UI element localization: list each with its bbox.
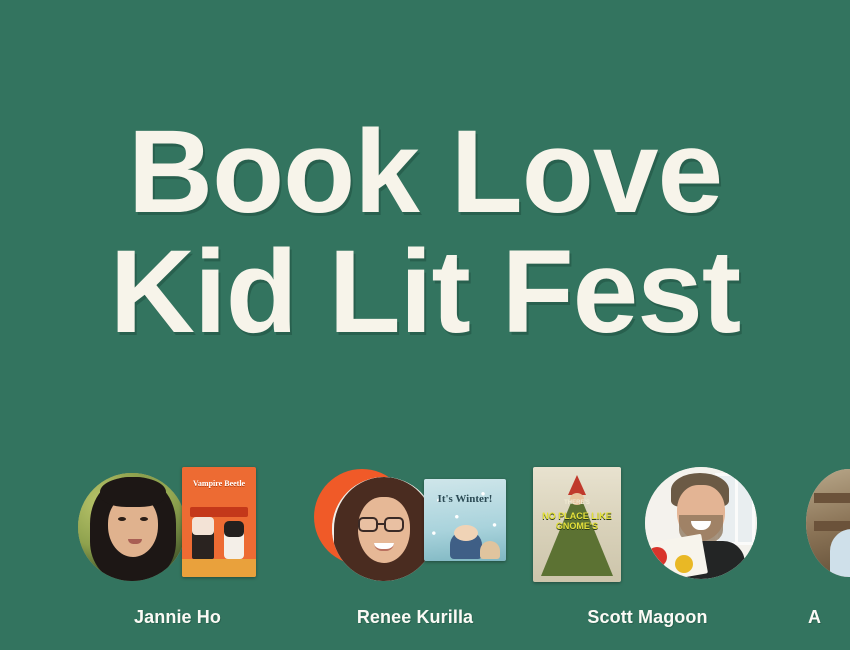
eyeglass-right [384, 517, 404, 532]
author-name-label: A [800, 607, 850, 628]
book-title: NO PLACE LIKE GNOME'S [533, 511, 621, 532]
book-ground [182, 559, 256, 577]
eye-right [140, 517, 148, 521]
avatar [806, 469, 850, 577]
author-card-scott-magoon[interactable]: THERE'S NO PLACE LIKE GNOME'S Scott Mago… [525, 465, 770, 650]
avatar [78, 473, 186, 581]
author-lineup: k Vampire Beetle Jannie [0, 465, 850, 650]
author-media: Vampire Beetle [70, 465, 285, 595]
book-cover-no-place-like-gnomes[interactable]: THERE'S NO PLACE LIKE GNOME'S [533, 467, 621, 582]
author-card-renee-kurilla[interactable]: It's Winter! Renee Kurilla [300, 465, 530, 650]
book-title-overline: THERE'S [533, 500, 621, 506]
book-subtitle-band [190, 507, 248, 517]
book-character-second [480, 541, 500, 559]
bookshelf-shape-upper [814, 493, 850, 503]
author-name-label: Scott Magoon [525, 607, 770, 628]
eyeglass-bridge [378, 523, 386, 525]
book-cover-vampire-beetle[interactable]: Vampire Beetle [182, 467, 256, 577]
author-card-jannie-ho[interactable]: Vampire Beetle Jannie Ho [70, 465, 285, 650]
yellow-dot-shape [675, 555, 693, 573]
book-character-vampire-head [192, 517, 214, 535]
book-title: It's Winter! [424, 493, 506, 505]
book-character-cat-head [224, 521, 244, 537]
author-name-label: k [0, 607, 58, 628]
author-media [0, 465, 58, 595]
avatar [645, 467, 757, 579]
author-card-partial-left[interactable]: k [0, 465, 58, 650]
book-character-child-head [454, 525, 478, 541]
author-name-label: Jannie Ho [70, 607, 285, 628]
eyeglass-left [358, 517, 378, 532]
book-cover-its-winter[interactable]: It's Winter! [424, 479, 506, 561]
gnome-hat-icon [568, 475, 586, 495]
author-card-partial-right[interactable]: A [800, 465, 850, 650]
fringe-shape [100, 477, 166, 507]
author-media [800, 465, 850, 595]
author-media: THERE'S NO PLACE LIKE GNOME'S [525, 465, 770, 595]
eye-left [118, 517, 126, 521]
avatar [332, 477, 436, 581]
page-title: Book Love Kid Lit Fest [0, 118, 850, 347]
title-line-1: Book Love [0, 118, 850, 228]
author-name-label: Renee Kurilla [300, 607, 530, 628]
book-title: Vampire Beetle [182, 479, 256, 489]
red-dot-shape [647, 547, 667, 567]
author-media: It's Winter! [300, 465, 530, 595]
title-line-2: Kid Lit Fest [0, 238, 850, 348]
